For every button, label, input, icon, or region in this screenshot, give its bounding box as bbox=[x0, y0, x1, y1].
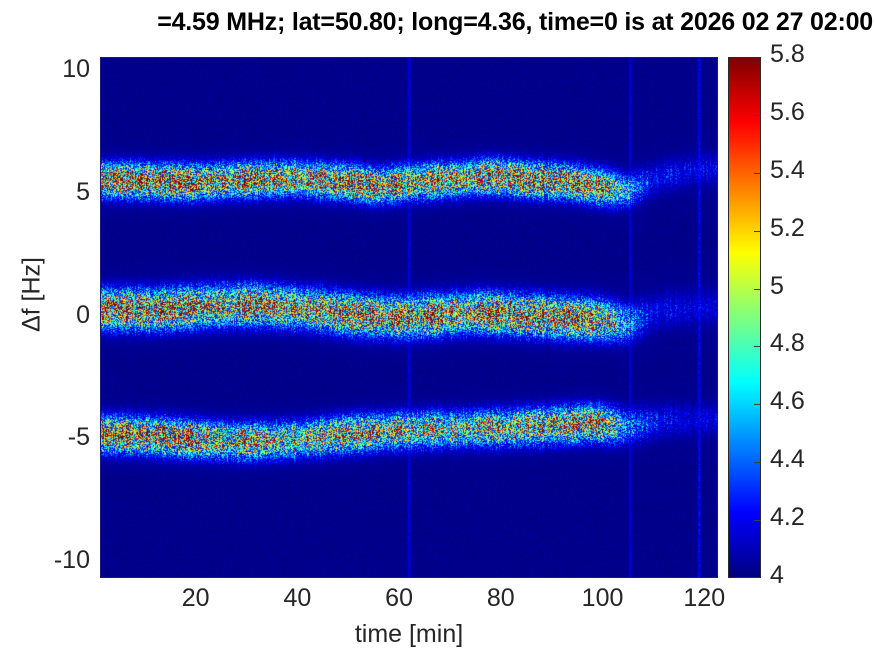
colorbar-tick-label: 4.6 bbox=[770, 387, 805, 416]
y-tick-label: 10 bbox=[62, 55, 90, 84]
colorbar-tick-label: 5.8 bbox=[770, 40, 805, 69]
x-tick-label: 20 bbox=[156, 584, 236, 613]
colorbar-tick-label: 5 bbox=[770, 272, 784, 301]
x-tick-label: 40 bbox=[257, 584, 337, 613]
colorbar-tick-mark bbox=[754, 404, 761, 405]
spectrogram-image bbox=[100, 57, 718, 578]
colorbar-tick-mark bbox=[754, 346, 761, 347]
x-tick-label: 60 bbox=[359, 584, 439, 613]
y-axis-label: Δf [Hz] bbox=[18, 195, 47, 395]
y-tick-label: 0 bbox=[76, 301, 90, 330]
colorbar-tick-mark bbox=[754, 520, 761, 521]
colorbar-tick-label: 4.8 bbox=[770, 329, 805, 358]
colorbar bbox=[728, 57, 761, 578]
x-tick-label: 100 bbox=[563, 584, 643, 613]
colorbar-tick-mark bbox=[754, 289, 761, 290]
colorbar-tick-mark bbox=[754, 231, 761, 232]
colorbar-tick-label: 5.6 bbox=[770, 98, 805, 127]
x-tick-label: 80 bbox=[461, 584, 541, 613]
colorbar-tick-label: 5.2 bbox=[770, 214, 805, 243]
colorbar-gradient bbox=[728, 57, 761, 578]
x-tick-label: 120 bbox=[664, 584, 744, 613]
y-tick-label: -5 bbox=[68, 423, 90, 452]
colorbar-tick-mark bbox=[754, 462, 761, 463]
colorbar-tick-label: 5.4 bbox=[770, 156, 805, 185]
colorbar-tick-mark bbox=[754, 173, 761, 174]
y-tick-label: 5 bbox=[76, 178, 90, 207]
x-axis-label: time [min] bbox=[100, 620, 718, 649]
colorbar-tick-label: 4.2 bbox=[770, 503, 805, 532]
colorbar-tick-label: 4.4 bbox=[770, 445, 805, 474]
page-title: =4.59 MHz; lat=50.80; long=4.36, time=0 … bbox=[0, 6, 875, 38]
y-tick-label: -10 bbox=[54, 546, 90, 575]
colorbar-tick-mark bbox=[754, 115, 761, 116]
spectrogram-plot-area bbox=[100, 57, 718, 578]
colorbar-tick-label: 4 bbox=[770, 561, 784, 590]
